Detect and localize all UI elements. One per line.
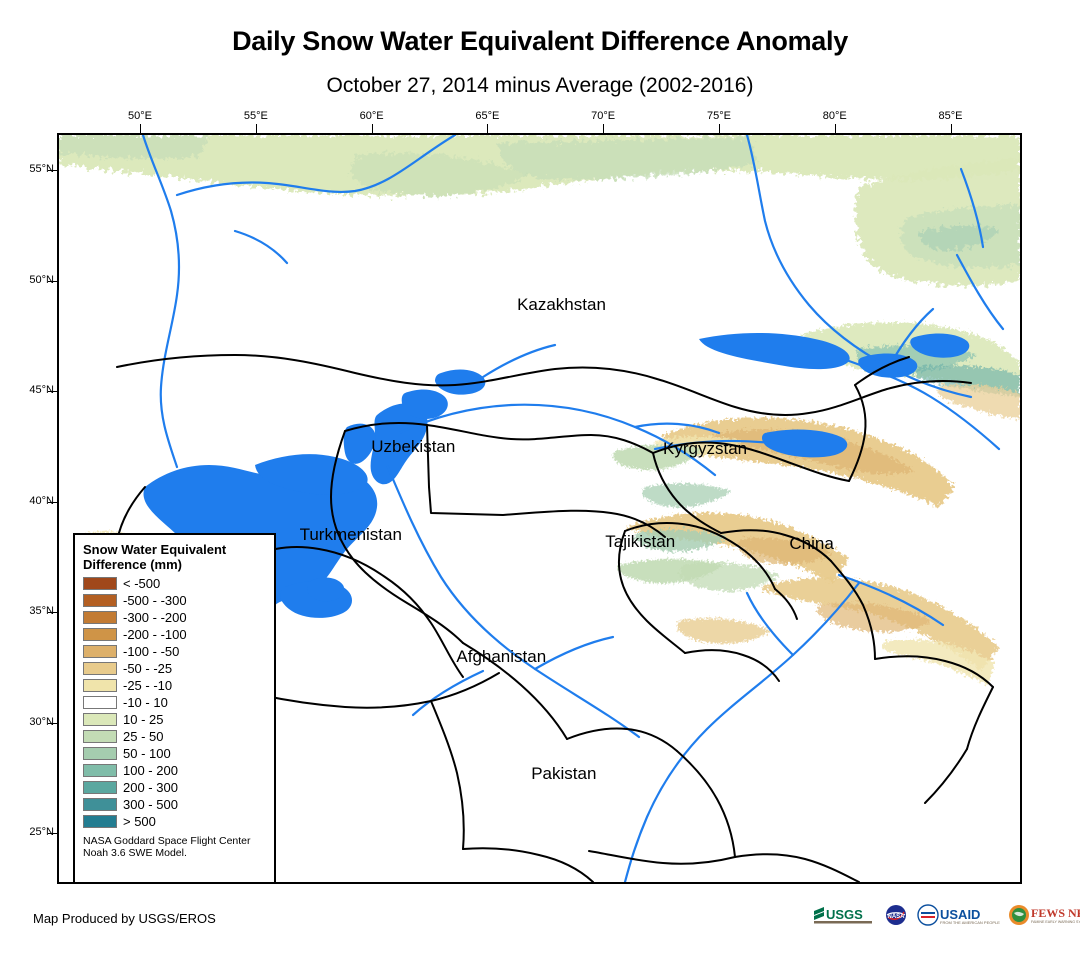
lon-tick-mark: [256, 124, 257, 133]
legend-row: < -500: [83, 575, 266, 592]
legend-row: -50 - -25: [83, 660, 266, 677]
legend-label: -200 - -100: [123, 628, 187, 641]
legend-row: -10 - 10: [83, 694, 266, 711]
legend-swatch: [83, 764, 117, 777]
legend-swatch: [83, 679, 117, 692]
legend-label: -10 - 10: [123, 696, 168, 709]
legend-swatch: [83, 628, 117, 641]
legend-swatch: [83, 713, 117, 726]
lat-tick-label: 30°N: [2, 716, 54, 728]
legend-note-line1: NASA Goddard Space Flight Center: [83, 835, 266, 847]
legend-swatch: [83, 815, 117, 828]
legend-swatch: [83, 577, 117, 590]
legend-label: -300 - -200: [123, 611, 187, 624]
lon-tick-mark: [372, 124, 373, 133]
legend-row: 200 - 300: [83, 779, 266, 796]
svg-text:FROM THE AMERICAN PEOPLE: FROM THE AMERICAN PEOPLE: [940, 920, 1000, 925]
lat-tick-label: 25°N: [2, 826, 54, 838]
lat-tick-label: 40°N: [2, 495, 54, 507]
legend-label: 50 - 100: [123, 747, 171, 760]
legend-swatch: [83, 798, 117, 811]
lat-tick-label: 50°N: [2, 274, 54, 286]
lon-tick-label: 55°E: [226, 110, 286, 122]
lon-tick-label: 70°E: [573, 110, 633, 122]
svg-text:NASA: NASA: [887, 914, 905, 920]
legend-row: 300 - 500: [83, 796, 266, 813]
map-credit: Map Produced by USGS/EROS: [33, 911, 216, 926]
lon-tick-label: 60°E: [342, 110, 402, 122]
svg-text:USGS: USGS: [826, 907, 863, 922]
lon-tick-label: 85°E: [921, 110, 981, 122]
lat-tick-mark: [48, 612, 57, 613]
lat-tick-mark: [48, 391, 57, 392]
legend-label: < -500: [123, 577, 160, 590]
legend-title: Snow Water Equivalent Difference (mm): [83, 542, 266, 572]
legend-swatch: [83, 645, 117, 658]
svg-text:FAMINE EARLY WARNING SYSTEMS N: FAMINE EARLY WARNING SYSTEMS NETWORK: [1031, 920, 1080, 924]
lon-tick-label: 75°E: [689, 110, 749, 122]
lat-tick-label: 35°N: [2, 605, 54, 617]
lon-tick-mark: [140, 124, 141, 133]
legend-swatch: [83, 611, 117, 624]
legend-row: > 500: [83, 813, 266, 830]
legend-swatch: [83, 747, 117, 760]
lon-tick-label: 80°E: [805, 110, 865, 122]
lat-tick-mark: [48, 723, 57, 724]
lon-tick-label: 50°E: [110, 110, 170, 122]
usaid-logo: USAID FROM THE AMERICAN PEOPLE: [916, 902, 1000, 928]
legend-note-line2: Noah 3.6 SWE Model.: [83, 847, 266, 859]
legend-swatch: [83, 594, 117, 607]
legend-label: 300 - 500: [123, 798, 178, 811]
map-legend: Snow Water Equivalent Difference (mm) < …: [73, 533, 276, 884]
legend-attribution: NASA Goddard Space Flight Center Noah 3.…: [83, 835, 266, 859]
fewsnet-logo: FEWS NET FAMINE EARLY WARNING SYSTEMS NE…: [1007, 902, 1080, 928]
lat-tick-label: 55°N: [2, 163, 54, 175]
legend-title-line2: Difference (mm): [83, 557, 266, 572]
legend-label: 200 - 300: [123, 781, 178, 794]
legend-label: 25 - 50: [123, 730, 163, 743]
legend-swatch: [83, 696, 117, 709]
legend-label: > 500: [123, 815, 156, 828]
legend-label: 10 - 25: [123, 713, 163, 726]
legend-row: 10 - 25: [83, 711, 266, 728]
legend-label: -500 - -300: [123, 594, 187, 607]
lat-tick-mark: [48, 170, 57, 171]
lat-tick-label: 45°N: [2, 384, 54, 396]
nasa-logo: NASA: [883, 902, 909, 928]
legend-swatch: [83, 781, 117, 794]
legend-swatch: [83, 662, 117, 675]
legend-label: -100 - -50: [123, 645, 179, 658]
lon-tick-mark: [835, 124, 836, 133]
legend-row: -300 - -200: [83, 609, 266, 626]
lon-tick-mark: [487, 124, 488, 133]
lon-tick-mark: [603, 124, 604, 133]
legend-label: -50 - -25: [123, 662, 172, 675]
legend-row: -25 - -10: [83, 677, 266, 694]
lat-tick-mark: [48, 833, 57, 834]
legend-swatch: [83, 730, 117, 743]
legend-row: -200 - -100: [83, 626, 266, 643]
lon-tick-mark: [719, 124, 720, 133]
lat-tick-mark: [48, 281, 57, 282]
legend-row: -100 - -50: [83, 643, 266, 660]
usgs-logo: USGS: [812, 902, 876, 928]
lon-tick-label: 65°E: [457, 110, 517, 122]
svg-text:FEWS NET: FEWS NET: [1031, 906, 1080, 920]
legend-row: 50 - 100: [83, 745, 266, 762]
legend-row: 100 - 200: [83, 762, 266, 779]
legend-title-line1: Snow Water Equivalent: [83, 542, 266, 557]
legend-row: -500 - -300: [83, 592, 266, 609]
lat-tick-mark: [48, 502, 57, 503]
legend-label: 100 - 200: [123, 764, 178, 777]
legend-class-list: < -500-500 - -300-300 - -200-200 - -100-…: [83, 575, 266, 830]
agency-logos: USGS NASA USAID FROM THE AMERICAN PEOPLE…: [812, 902, 1080, 928]
legend-label: -25 - -10: [123, 679, 172, 692]
page-subtitle: October 27, 2014 minus Average (2002-201…: [0, 74, 1080, 98]
lon-tick-mark: [951, 124, 952, 133]
page-title: Daily Snow Water Equivalent Difference A…: [0, 26, 1080, 57]
legend-row: 25 - 50: [83, 728, 266, 745]
